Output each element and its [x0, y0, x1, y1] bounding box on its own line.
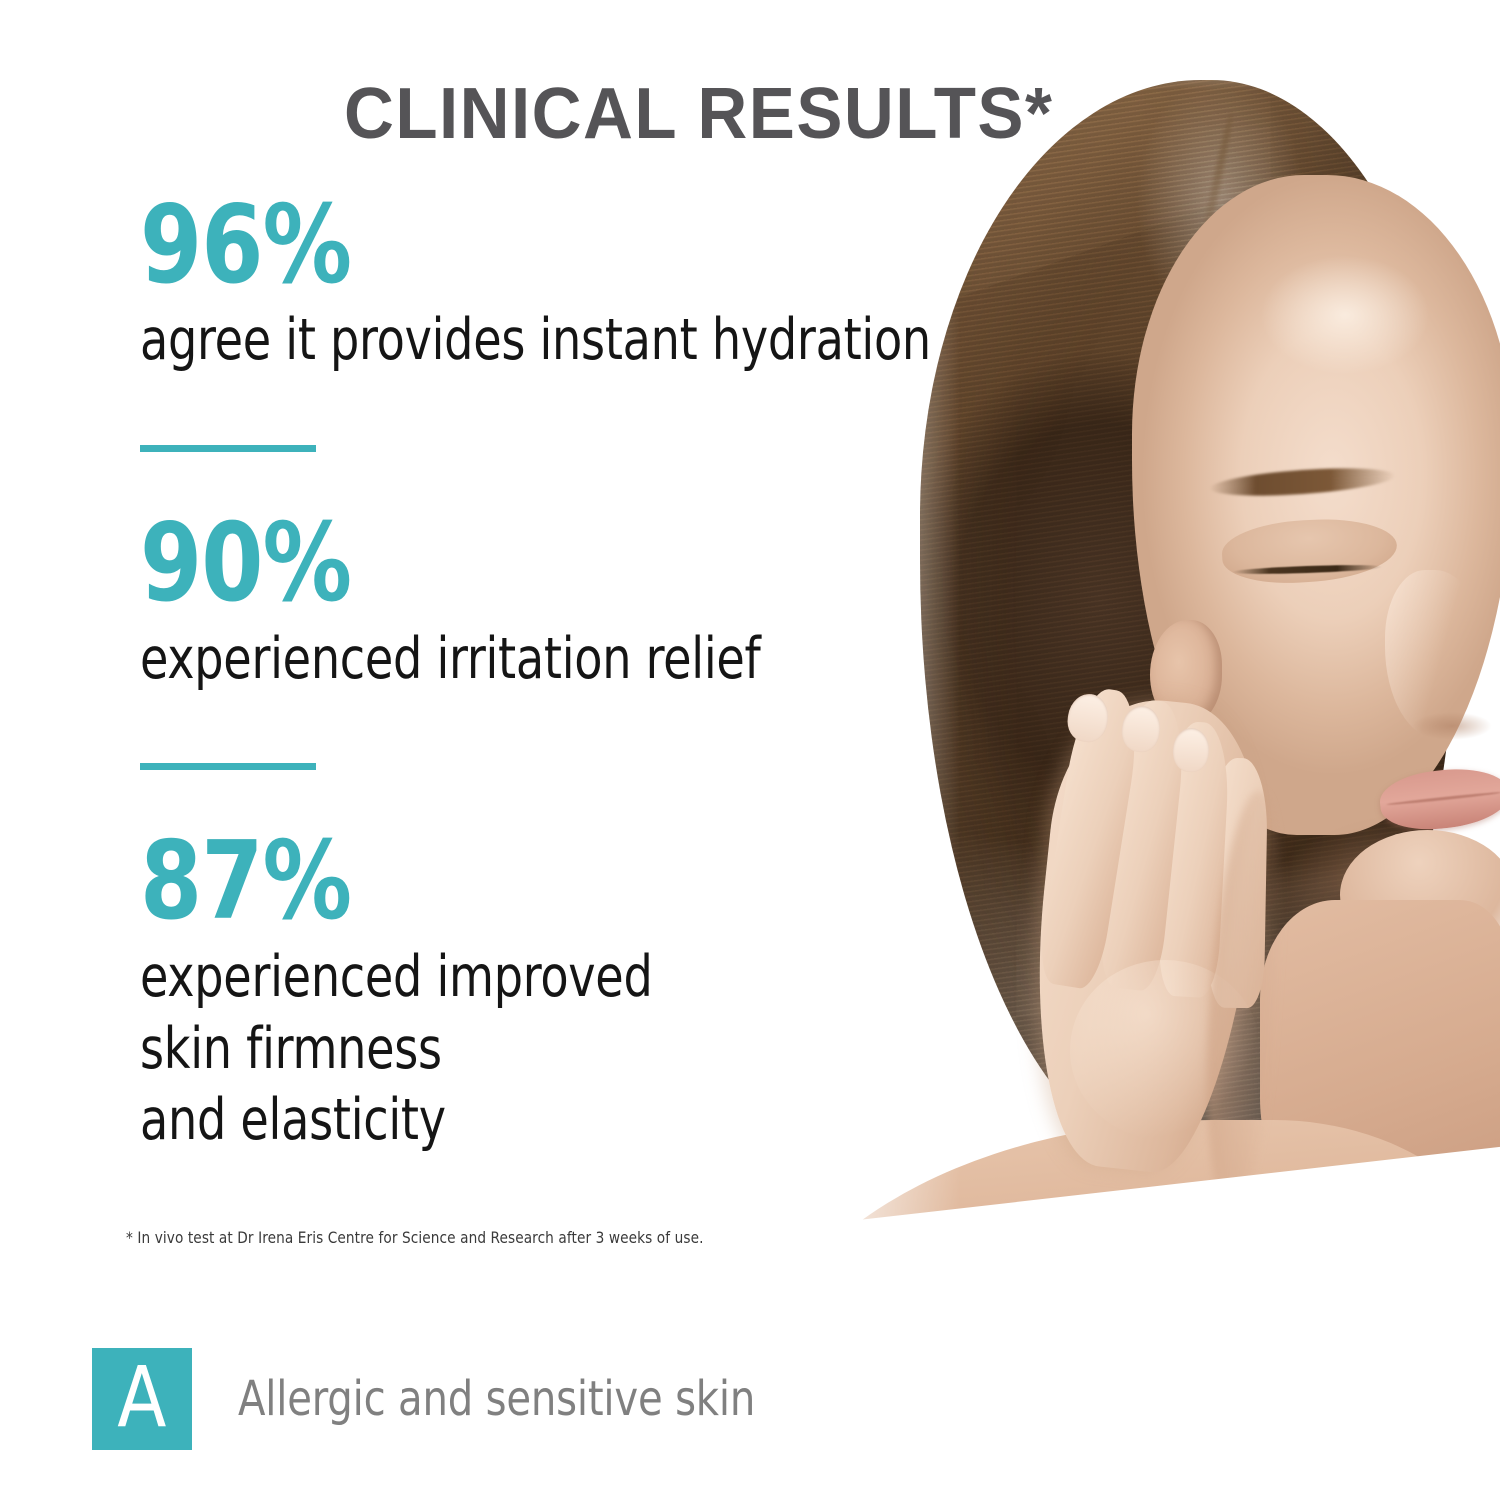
- stat-description: agree it provides instant hydration: [140, 305, 977, 377]
- stat-divider-1: [140, 445, 316, 452]
- shoulder: [750, 1120, 1500, 1400]
- fingernail-index: [1064, 691, 1111, 745]
- fingernail-ring: [1172, 727, 1210, 773]
- photo-bottom-diagonal-crop: [740, 1140, 1500, 1400]
- spacer: [140, 377, 1070, 445]
- spacer: [140, 695, 1070, 763]
- hair-parting: [1192, 111, 1235, 279]
- allergy-badge-square: A: [92, 1348, 192, 1450]
- finger-ring: [1157, 721, 1231, 999]
- fingernail-middle: [1120, 704, 1163, 754]
- stat-percent: 96%: [140, 196, 996, 295]
- clinical-results-banner: CLINICAL RESULTS* 96% agree it provides …: [0, 0, 1500, 1500]
- stat-percent: 87%: [140, 832, 996, 931]
- footnote: * In vivo test at Dr Irena Eris Centre f…: [126, 1228, 704, 1247]
- jaw-shadow: [1248, 790, 1482, 960]
- closed-eyelid: [1220, 515, 1398, 586]
- stat-divider-2: [140, 763, 316, 770]
- nose: [1385, 570, 1485, 740]
- allergy-badge: A Allergic and sensitive skin: [92, 1348, 794, 1450]
- stat-block-3: 87% experienced improved skin firmness a…: [140, 832, 1070, 1157]
- clinical-stats-list: 96% agree it provides instant hydration …: [140, 196, 1070, 1157]
- stat-percent: 90%: [140, 514, 996, 613]
- collarbone-shadow: [1169, 1214, 1432, 1285]
- face-shape: [1132, 175, 1500, 835]
- stat-description: experienced improved skin firmness and e…: [140, 942, 977, 1157]
- neck: [1260, 900, 1500, 1230]
- chin: [1340, 830, 1500, 960]
- page-title: CLINICAL RESULTS*: [344, 78, 1053, 150]
- ear: [1150, 620, 1222, 725]
- forehead-highlight: [1260, 255, 1430, 375]
- eyebrow: [1209, 464, 1395, 501]
- stat-block-2: 90% experienced irritation relief: [140, 514, 1070, 695]
- hand-highlight: [1070, 960, 1260, 1140]
- allergy-badge-label: Allergic and sensitive skin: [238, 1371, 755, 1427]
- finger-little: [1208, 758, 1268, 1009]
- stat-block-1: 96% agree it provides instant hydration: [140, 196, 1070, 377]
- allergy-badge-letter: A: [117, 1355, 166, 1439]
- nose-shadow: [1412, 712, 1492, 740]
- hand-edge-shadow: [1195, 788, 1294, 1212]
- lip-line: [1386, 791, 1500, 806]
- finger-middle: [1097, 698, 1189, 993]
- eyelashes: [1232, 563, 1382, 575]
- lips: [1377, 763, 1500, 834]
- stat-description: experienced irritation relief: [140, 624, 977, 696]
